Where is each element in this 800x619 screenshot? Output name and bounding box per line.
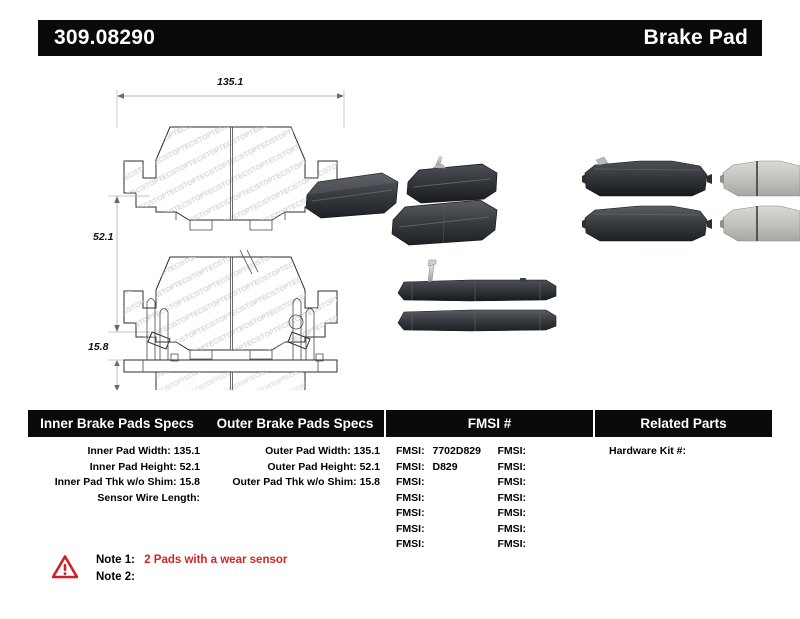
spec-row: Sensor Wire Length: (28, 491, 206, 507)
spec-label: Sensor Wire Length: (97, 492, 200, 504)
note-row-1: Note 1: 2 Pads with a wear sensor (96, 552, 287, 569)
spec-row: Inner Pad Height: 52.1 (28, 460, 206, 476)
related-part-row: Hardware Kit #: (595, 444, 772, 460)
fmsi-row: FMSI: 7702D829 (396, 444, 497, 460)
spec-value: 135.1 (354, 445, 380, 457)
fmsi-value (425, 507, 430, 519)
fmsi-value (425, 476, 430, 488)
note-lines: Note 1: 2 Pads with a wear sensor Note 2… (96, 552, 287, 586)
fmsi-value (526, 507, 531, 519)
notes-section: Note 1: 2 Pads with a wear sensor Note 2… (52, 552, 287, 586)
fmsi-row: FMSI: (396, 475, 497, 491)
fmsi-label: FMSI: (497, 538, 526, 550)
product-photo-pad-set (582, 157, 800, 241)
fmsi-value (425, 523, 430, 535)
outer-specs-column: Outer Pad Width: 135.1 Outer Pad Height:… (206, 444, 386, 553)
fmsi-row: FMSI: (396, 537, 497, 553)
fmsi-label: FMSI: (497, 461, 526, 473)
fmsi-row: FMSI: (497, 537, 595, 553)
spec-row: Outer Pad Thk w/o Shim: 15.8 (206, 475, 386, 491)
fmsi-subcolumn-left: FMSI: 7702D829 FMSI: D829 FMSI: FMSI: (386, 444, 497, 553)
fmsi-value: 7702D829 (428, 445, 481, 457)
fmsi-value: D829 (428, 461, 458, 473)
note-1-value: 2 Pads with a wear sensor (144, 554, 287, 566)
inner-specs-column: Inner Pad Width: 135.1 Inner Pad Height:… (28, 444, 206, 553)
fmsi-label: FMSI: (497, 445, 526, 457)
fmsi-row: FMSI: (497, 475, 595, 491)
fmsi-value (526, 445, 531, 457)
spec-value: 52.1 (180, 461, 200, 473)
spec-row: Outer Pad Width: 135.1 (206, 444, 386, 460)
spec-value: 135.1 (174, 445, 200, 457)
note-1-label: Note 1: (96, 554, 135, 566)
fmsi-label: FMSI: (497, 492, 526, 504)
fmsi-label: FMSI: (396, 538, 425, 550)
table-header-row: Inner Brake Pads Specs Outer Brake Pads … (28, 410, 772, 437)
dimension-thickness-label: 15.8 (88, 341, 108, 353)
fmsi-column: FMSI: 7702D829 FMSI: D829 FMSI: FMSI: (386, 444, 595, 553)
fmsi-subcolumn-right: FMSI: FMSI: FMSI: FMSI: (497, 444, 595, 553)
product-photo-edge-pair (398, 260, 556, 331)
warning-triangle-icon (52, 555, 78, 579)
fmsi-row: FMSI: (497, 460, 595, 476)
spec-label: Inner Pad Width: (87, 445, 170, 457)
table-body: Inner Pad Width: 135.1 Inner Pad Height:… (28, 437, 772, 553)
header-bar: 309.08290 Brake Pad (38, 20, 762, 56)
fmsi-label: FMSI: (396, 523, 425, 535)
fmsi-value (526, 538, 531, 550)
fmsi-value (526, 461, 531, 473)
spec-label: Outer Pad Height: (267, 461, 356, 473)
column-header-related-parts: Related Parts (595, 410, 772, 437)
fmsi-row: FMSI: D829 (396, 460, 497, 476)
spec-label: Outer Pad Width: (265, 445, 351, 457)
spec-row: Inner Pad Thk w/o Shim: 15.8 (28, 475, 206, 491)
column-header-outer-specs: Outer Brake Pads Specs (206, 410, 384, 437)
note-2-label: Note 2: (96, 571, 135, 583)
fmsi-row: FMSI: (497, 506, 595, 522)
spec-label: Outer Pad Thk w/o Shim: (232, 476, 356, 488)
fmsi-label: FMSI: (396, 476, 425, 488)
part-number: 309.08290 (54, 26, 155, 50)
fmsi-value (526, 492, 531, 504)
spec-value: 52.1 (360, 461, 380, 473)
fmsi-row: FMSI: (497, 491, 595, 507)
fmsi-row: FMSI: (396, 522, 497, 538)
fmsi-value (526, 523, 531, 535)
spec-value: 15.8 (180, 476, 200, 488)
fmsi-row: FMSI: (497, 522, 595, 538)
spec-row: Inner Pad Width: 135.1 (28, 444, 206, 460)
fmsi-label: FMSI: (497, 523, 526, 535)
fmsi-label: FMSI: (497, 507, 526, 519)
fmsi-row: FMSI: (396, 491, 497, 507)
fmsi-row: FMSI: (497, 444, 595, 460)
fmsi-label: FMSI: (396, 492, 425, 504)
drawing-area: 135.1 52.1 15.8 STOPTECH STOPTECH (0, 60, 800, 390)
fmsi-value (425, 492, 430, 504)
dimension-height-label: 52.1 (93, 231, 113, 243)
fmsi-value (526, 476, 531, 488)
spec-row: Outer Pad Height: 52.1 (206, 460, 386, 476)
product-type: Brake Pad (643, 26, 748, 50)
related-parts-column: Hardware Kit #: (595, 444, 772, 553)
column-header-inner-specs: Inner Brake Pads Specs (28, 410, 206, 437)
spec-label: Inner Pad Thk w/o Shim: (55, 476, 177, 488)
note-row-2: Note 2: (96, 569, 287, 586)
column-header-fmsi: FMSI # (386, 410, 593, 437)
fmsi-label: FMSI: (396, 507, 425, 519)
spec-sheet: 309.08290 Brake Pad 135.1 52.1 15.8 STOP… (0, 0, 800, 619)
spec-value: 15.8 (360, 476, 380, 488)
spec-label: Inner Pad Height: (90, 461, 177, 473)
technical-drawing: STOPTECH STOPTECH (0, 60, 800, 390)
fmsi-label: FMSI: (396, 445, 425, 457)
fmsi-row: FMSI: (396, 506, 497, 522)
fmsi-label: FMSI: (497, 476, 526, 488)
dimension-width-label: 135.1 (217, 76, 243, 88)
fmsi-label: FMSI: (396, 461, 425, 473)
related-part-label: Hardware Kit #: (609, 445, 686, 457)
spec-table: Inner Brake Pads Specs Outer Brake Pads … (28, 410, 772, 553)
fmsi-value (425, 538, 430, 550)
